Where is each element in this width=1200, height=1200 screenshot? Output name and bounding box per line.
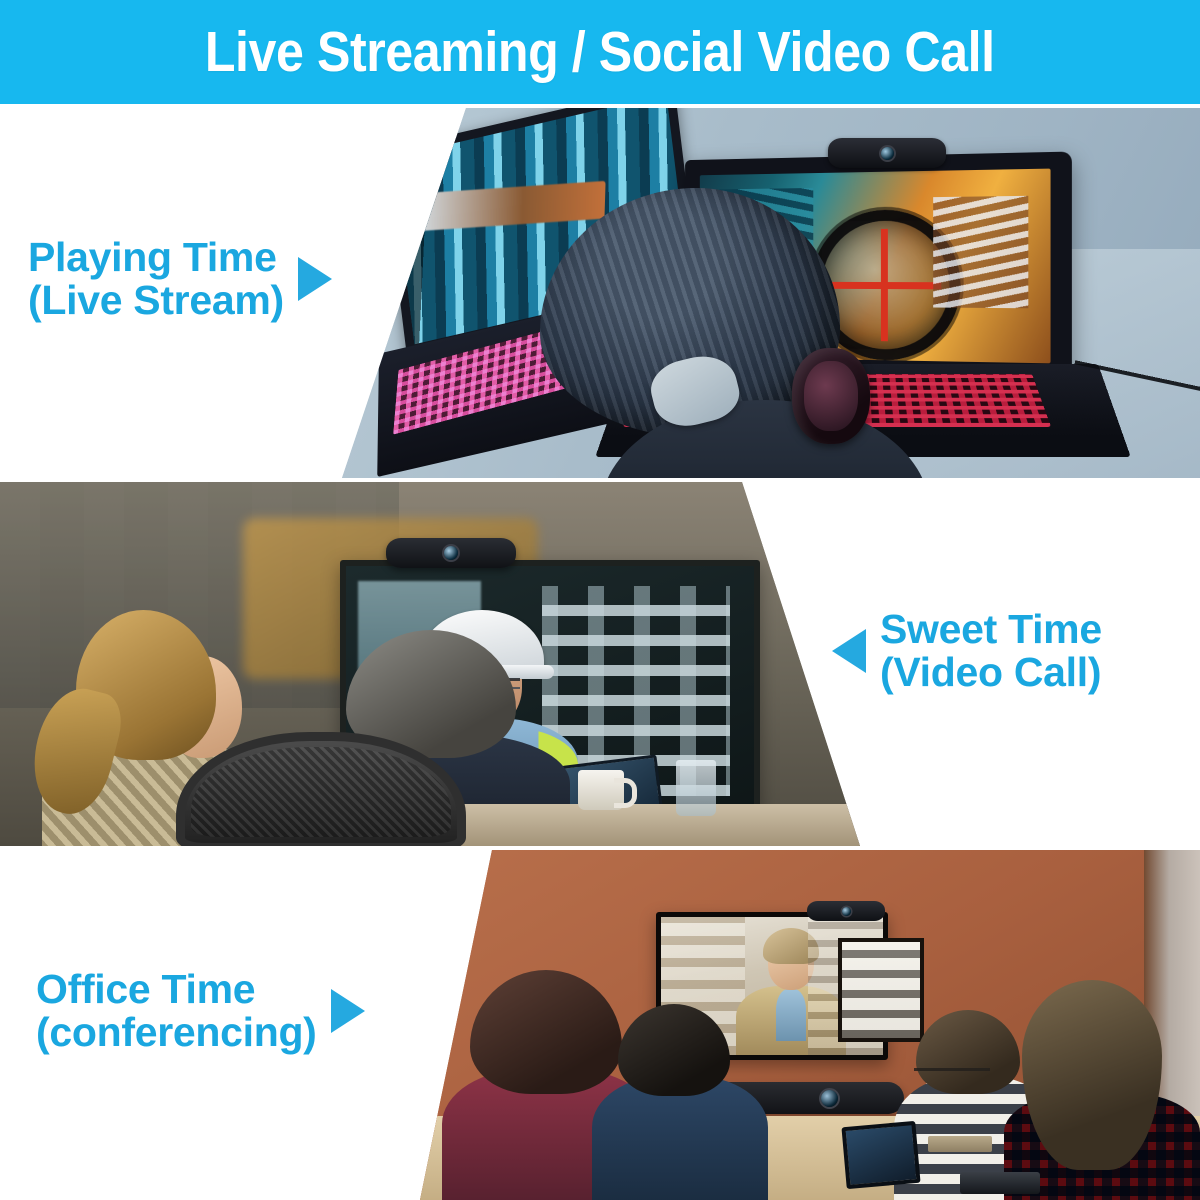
callout-playing-time-text: Playing Time (Live Stream): [28, 236, 284, 323]
tv-mounted-webcam: [807, 901, 885, 921]
callout-office-time: Office Time (conferencing): [36, 968, 365, 1055]
crosshair-vertical: [881, 229, 888, 342]
callout-playing-time: Playing Time (Live Stream): [28, 236, 332, 323]
header-banner: Live Streaming / Social Video Call: [0, 0, 1200, 104]
triangle-right-icon: [331, 989, 365, 1033]
attendee-plaid-shirt-hair: [1022, 980, 1162, 1170]
meeting-remote-control: [960, 1172, 1040, 1194]
photo-panel-sweet-time: [0, 482, 868, 846]
callout-sweet-time-line2: (Video Call): [880, 651, 1102, 694]
remote-participant-hair: [763, 928, 819, 964]
gamer-person: [540, 188, 870, 478]
callout-sweet-time-line1: Sweet Time: [880, 608, 1102, 651]
infographic-page: Live Streaming / Social Video Call: [0, 0, 1200, 1200]
triangle-right-icon: [298, 257, 332, 301]
remote-participant-shirt: [776, 989, 806, 1041]
photo-panel-office-time: [420, 850, 1200, 1200]
callout-sweet-time: Sweet Time (Video Call): [832, 608, 1102, 695]
page-title: Live Streaming / Social Video Call: [205, 19, 995, 85]
triangle-left-icon: [832, 629, 866, 673]
callout-sweet-time-text: Sweet Time (Video Call): [880, 608, 1102, 695]
attendee-second-left: [592, 1004, 768, 1200]
attendee-second-left-hair: [618, 1004, 730, 1096]
attendee-glasses: [914, 1068, 990, 1077]
photo-conference-room: [420, 850, 1200, 1200]
callout-playing-time-line1: Playing Time: [28, 236, 284, 279]
photo-office-video-call: [0, 482, 868, 846]
meeting-notepad: [928, 1136, 992, 1152]
monitor-mounted-webcam: [386, 538, 516, 568]
callout-office-time-text: Office Time (conferencing): [36, 968, 317, 1055]
attendee-plaid-shirt: [1004, 980, 1200, 1200]
meeting-tablet: [841, 1121, 920, 1189]
callout-playing-time-line2: (Live Stream): [28, 279, 284, 322]
water-glass: [676, 760, 716, 816]
photo-panel-playing-time: [330, 108, 1200, 478]
clip-on-webcam: [828, 138, 946, 168]
headphone-earcup: [792, 348, 870, 444]
callout-office-time-line1: Office Time: [36, 968, 317, 1011]
photo-gaming-live-stream: [330, 108, 1200, 478]
callout-office-time-line2: (conferencing): [36, 1011, 317, 1054]
coffee-mug: [578, 770, 624, 810]
